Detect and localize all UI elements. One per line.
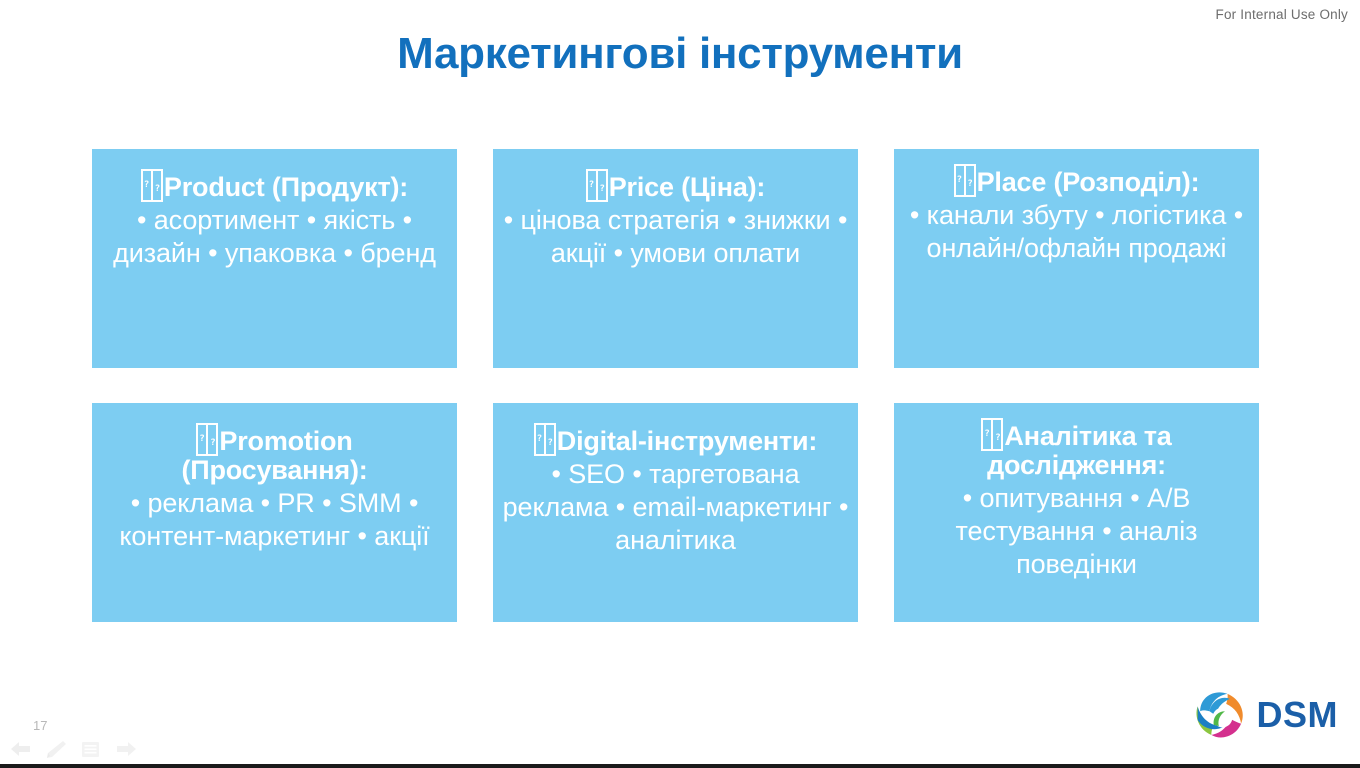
- slide-menu-icon[interactable]: [78, 738, 104, 760]
- dsm-logo-text: DSM: [1257, 697, 1339, 733]
- slide-canvas: For Internal Use Only Маркетингові інстр…: [0, 0, 1360, 768]
- card-promotion-heading: Promotion (Просування):: [100, 423, 449, 485]
- card-product-body: • асортимент • якість • дизайн • упаковк…: [100, 204, 449, 270]
- confidentiality-notice: For Internal Use Only: [1216, 7, 1349, 22]
- missing-glyph-box-icon: [954, 164, 976, 197]
- card-digital-tools-heading: Digital-інструменти:: [534, 423, 817, 456]
- card-analytics-heading-text: Аналітика та дослідження:: [987, 421, 1172, 480]
- card-analytics-body: • опитування • A/B тестування • аналіз п…: [902, 482, 1251, 581]
- card-promotion: Promotion (Просування): • реклама • PR •…: [92, 403, 457, 622]
- missing-glyph-box-icon: [586, 169, 608, 202]
- card-price-heading-text: Price (Ціна):: [609, 172, 765, 202]
- pen-tool-icon[interactable]: [43, 738, 69, 760]
- card-price-heading: Price (Ціна):: [586, 169, 765, 202]
- card-digital-tools-body: • SEO • таргетована реклама • email-марк…: [501, 458, 850, 557]
- marketing-tools-grid: Product (Продукт): • асортимент • якість…: [92, 149, 1259, 622]
- previous-slide-arrow-icon[interactable]: [8, 738, 34, 760]
- dsm-swirl-icon: [1189, 684, 1251, 746]
- card-product-heading: Product (Продукт):: [141, 169, 408, 202]
- missing-glyph-box-icon: [981, 418, 1003, 451]
- card-product-heading-text: Product (Продукт):: [164, 172, 408, 202]
- next-slide-arrow-icon[interactable]: [113, 738, 139, 760]
- card-analytics: Аналітика та дослідження: • опитування •…: [894, 403, 1259, 622]
- card-place-body: • канали збуту • логістика • онлайн/офла…: [902, 199, 1251, 265]
- missing-glyph-box-icon: [141, 169, 163, 202]
- card-promotion-body: • реклама • PR • SMM • контент-маркетинг…: [100, 487, 449, 553]
- card-place-heading: Place (Розподіл):: [954, 164, 1200, 197]
- slide-number: 17: [33, 718, 47, 733]
- card-analytics-heading: Аналітика та дослідження:: [902, 418, 1251, 480]
- missing-glyph-box-icon: [534, 423, 556, 456]
- card-digital-tools-heading-text: Digital-інструменти:: [557, 426, 817, 456]
- card-product: Product (Продукт): • асортимент • якість…: [92, 149, 457, 368]
- page-title: Маркетингові інструменти: [0, 30, 1360, 78]
- presenter-navigation: [8, 738, 139, 760]
- dsm-logo: DSM: [1189, 684, 1339, 746]
- card-digital-tools: Digital-інструменти: • SEO • таргетована…: [493, 403, 858, 622]
- card-price: Price (Ціна): • цінова стратегія • знижк…: [493, 149, 858, 368]
- card-place-heading-text: Place (Розподіл):: [977, 167, 1200, 197]
- missing-glyph-box-icon: [196, 423, 218, 456]
- card-place: Place (Розподіл): • канали збуту • логіс…: [894, 149, 1259, 368]
- card-price-body: • цінова стратегія • знижки • акції • ум…: [501, 204, 850, 270]
- bottom-edge-strip: [0, 764, 1360, 768]
